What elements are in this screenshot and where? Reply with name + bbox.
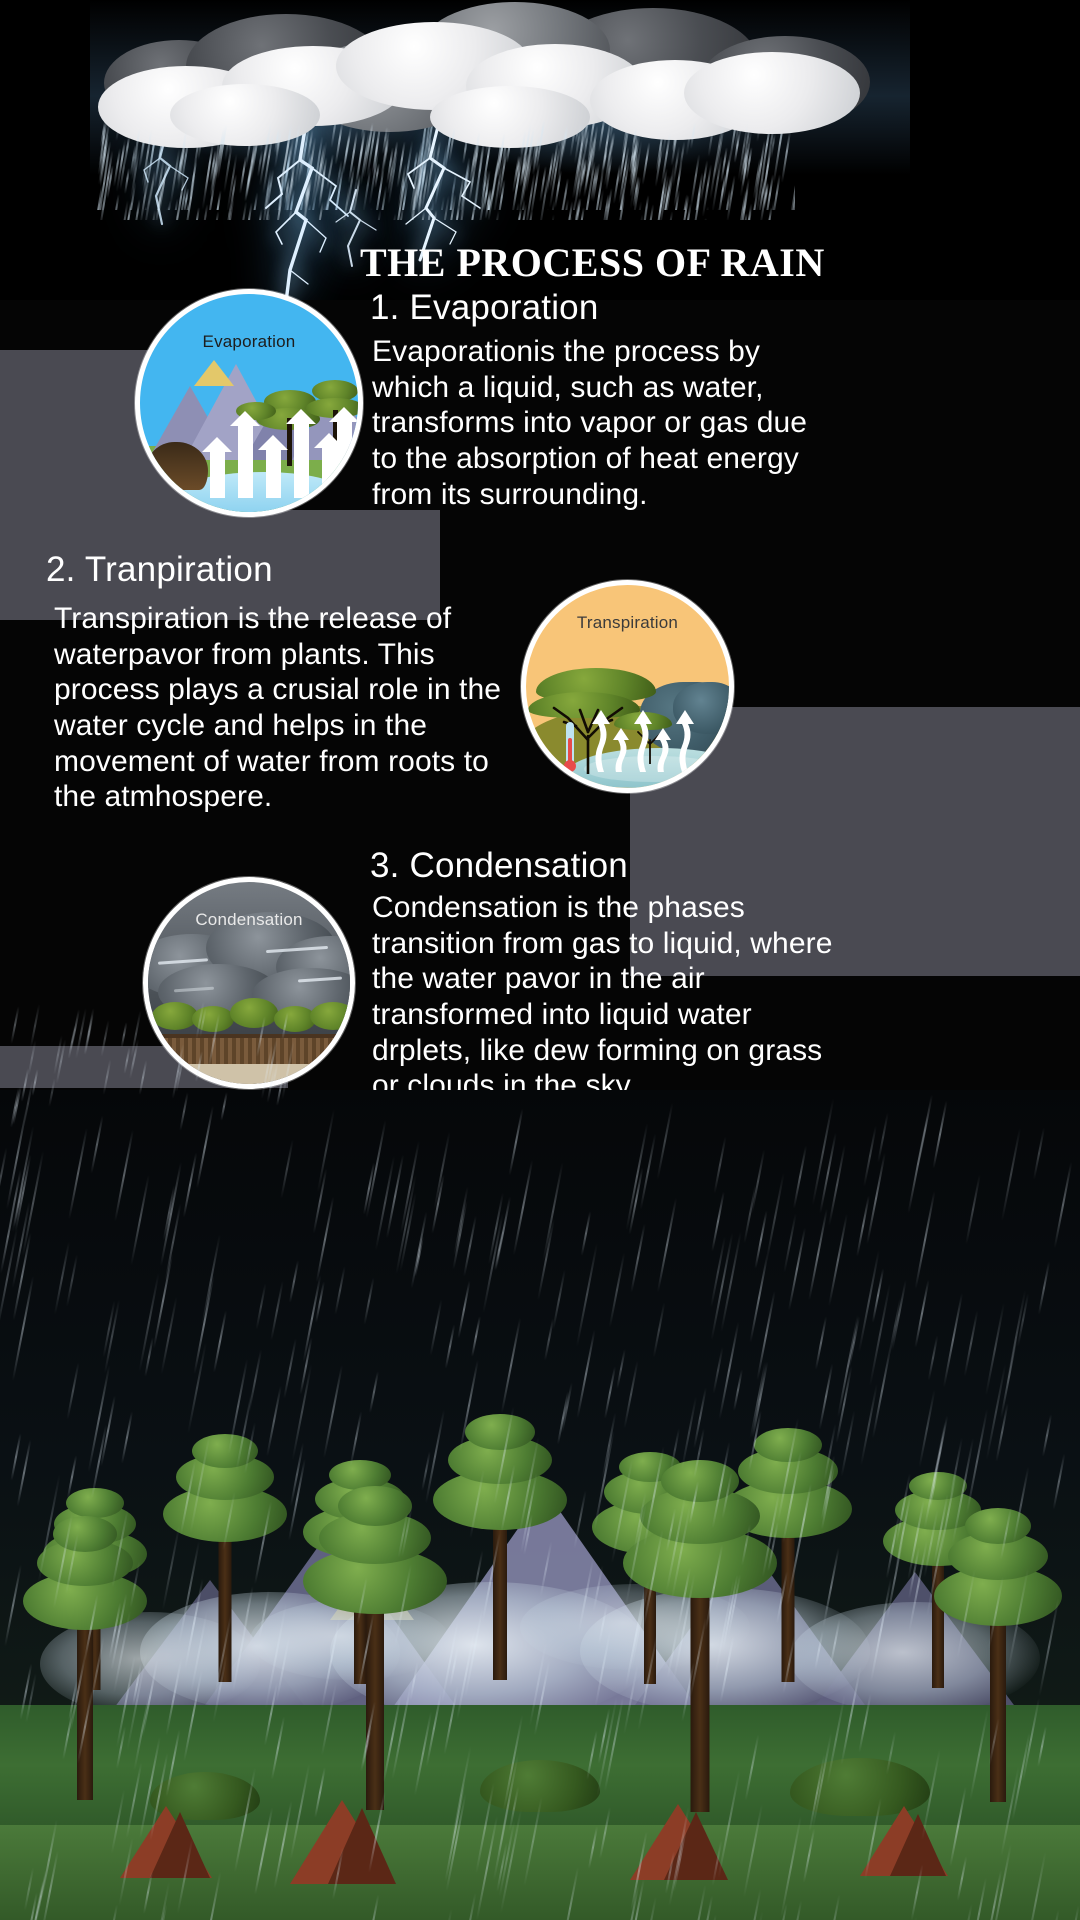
vapor-arrow-icon bbox=[238, 424, 253, 498]
vapor-arrow-icon bbox=[322, 446, 337, 498]
transpiration-vapor-arrows bbox=[588, 686, 700, 772]
section-2-body: Transpiration is the release of waterpav… bbox=[54, 601, 524, 815]
rain-streaks-front bbox=[100, 120, 780, 220]
condensation-circle-label: Condensation bbox=[148, 910, 350, 930]
section-1-body: Evaporationis the process by which a liq… bbox=[372, 334, 832, 512]
tent bbox=[890, 1814, 946, 1876]
infographic-poster: THE PROCESS OF RAIN Evaporation 1. Evapo… bbox=[0, 0, 1080, 1920]
condensation-illustration-circle: Condensation bbox=[143, 877, 355, 1089]
tree-row bbox=[148, 990, 350, 1036]
tree bbox=[930, 1502, 1065, 1802]
rainy-forest-illustration bbox=[0, 1090, 1080, 1920]
vapor-arrow-icon bbox=[210, 450, 225, 498]
section-2-heading: 2. Tranpiration bbox=[46, 550, 273, 590]
tree bbox=[620, 1452, 780, 1812]
tree-canopy bbox=[310, 1002, 355, 1030]
evaporation-circle-label: Evaporation bbox=[140, 332, 358, 352]
evaporation-illustration-circle: Evaporation bbox=[135, 289, 363, 517]
tree-canopy bbox=[152, 1002, 198, 1030]
tree bbox=[430, 1412, 570, 1680]
vapor-arrow-icon bbox=[337, 420, 352, 498]
tree-canopy bbox=[230, 998, 278, 1028]
section-3-body: Condensation is the phases transition fr… bbox=[372, 890, 842, 1104]
section-1-heading: 1. Evaporation bbox=[370, 288, 599, 328]
page-title: THE PROCESS OF RAIN bbox=[360, 242, 1060, 284]
thermometer-mercury-icon bbox=[568, 738, 572, 768]
section-3-heading: 3. Condensation bbox=[370, 846, 628, 886]
vapor-arrow-icon bbox=[266, 448, 281, 498]
tree bbox=[300, 1480, 450, 1810]
boardwalk bbox=[148, 1034, 350, 1068]
tree bbox=[20, 1510, 150, 1800]
transpiration-illustration-circle: Transpiration bbox=[521, 580, 734, 793]
tent bbox=[150, 1812, 210, 1878]
transpiration-circle-label: Transpiration bbox=[526, 613, 729, 633]
mountain-snowcap bbox=[194, 360, 234, 386]
sand-path bbox=[148, 1064, 350, 1084]
tree-canopy bbox=[192, 1006, 234, 1032]
tree bbox=[160, 1432, 290, 1682]
tent bbox=[664, 1812, 728, 1880]
tent bbox=[328, 1808, 396, 1884]
vapor-arrow-icon bbox=[294, 422, 309, 498]
evaporation-arrows bbox=[206, 393, 356, 498]
